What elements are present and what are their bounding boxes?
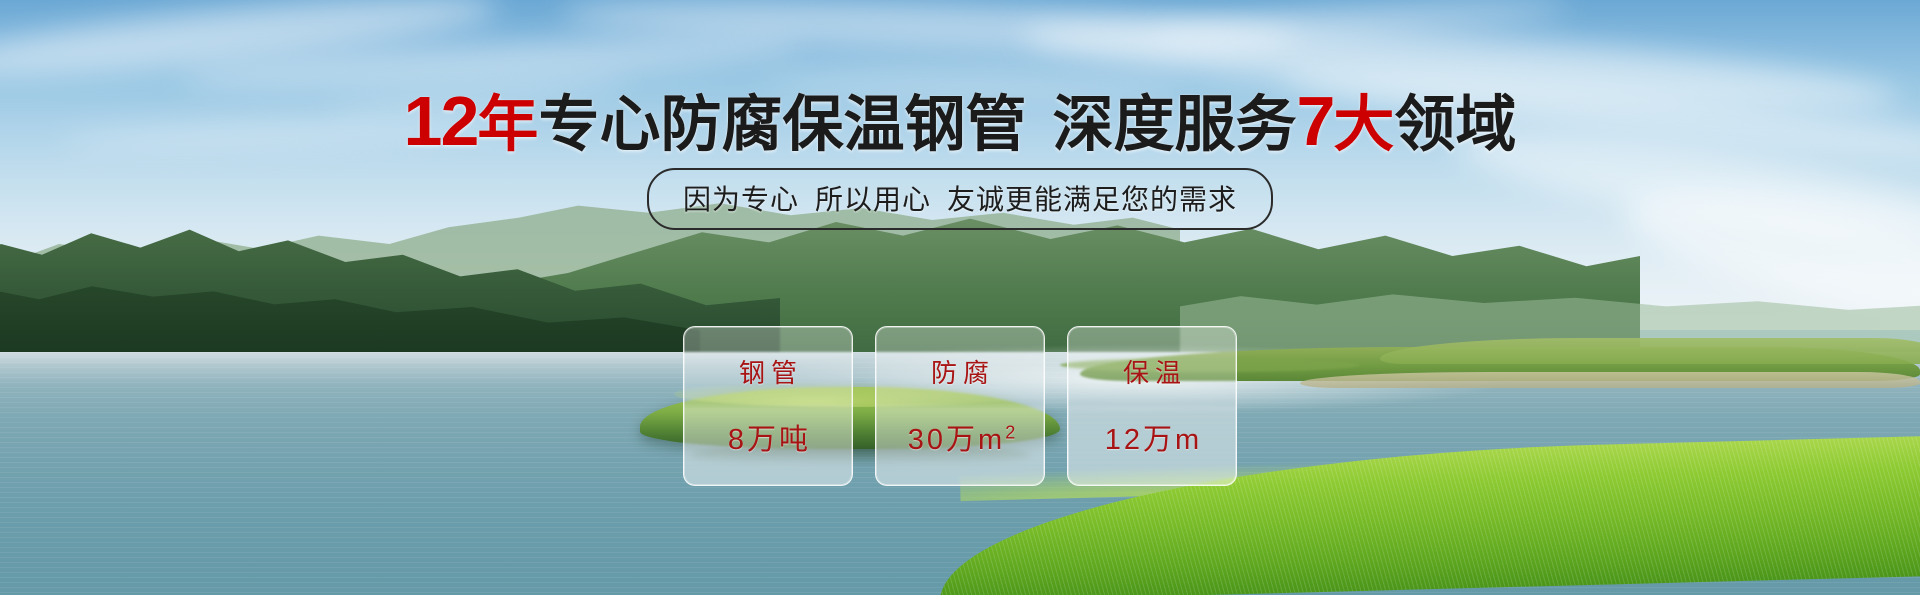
stat-card-title: 保温 <box>1117 353 1187 390</box>
headline-main-segment: 专心防腐保温钢管 <box>538 90 1026 158</box>
stat-card-value: 8万吨 <box>725 416 811 458</box>
stat-card-insulation: 保温 12万m <box>1067 326 1237 486</box>
headline-years-unit: 年 <box>477 90 538 158</box>
stat-value-text: 30万m <box>908 424 1005 456</box>
stat-cards: 钢管 8万吨 防腐 30万m2 保温 12万m <box>0 326 1920 486</box>
headline: 12年专心防腐保温钢管深度服务7大领域 <box>0 86 1920 156</box>
stat-value-superscript: 2 <box>1005 422 1015 442</box>
headline-fields-number: 7 <box>1296 82 1333 160</box>
tagline-container: 因为专心所以用心友诚更能满足您的需求 <box>0 168 1920 230</box>
stat-value-text: 12万m <box>1105 424 1202 456</box>
headline-years-number: 12 <box>404 82 478 160</box>
stat-card-steel-pipe: 钢管 8万吨 <box>683 326 853 486</box>
stat-card-title: 钢管 <box>733 353 803 390</box>
headline-service-segment: 深度服务 <box>1052 90 1296 158</box>
tagline-pill: 因为专心所以用心友诚更能满足您的需求 <box>647 168 1273 230</box>
stat-card-title: 防腐 <box>925 353 995 390</box>
tagline-part-2: 所以用心 <box>815 184 931 215</box>
tagline-part-1: 因为专心 <box>683 184 799 215</box>
headline-fields-suffix: 领域 <box>1394 90 1516 158</box>
tagline-part-3: 友诚更能满足您的需求 <box>947 184 1237 215</box>
stat-value-text: 8万吨 <box>728 424 811 456</box>
banner-content: 12年专心防腐保温钢管深度服务7大领域 因为专心所以用心友诚更能满足您的需求 钢… <box>0 0 1920 595</box>
stat-card-value: 30万m2 <box>905 416 1015 458</box>
headline-fields-suffix-red: 大 <box>1333 90 1394 158</box>
stat-card-anticorrosion: 防腐 30万m2 <box>875 326 1045 486</box>
stat-card-value: 12万m <box>1102 416 1202 458</box>
hero-banner: 12年专心防腐保温钢管深度服务7大领域 因为专心所以用心友诚更能满足您的需求 钢… <box>0 0 1920 595</box>
